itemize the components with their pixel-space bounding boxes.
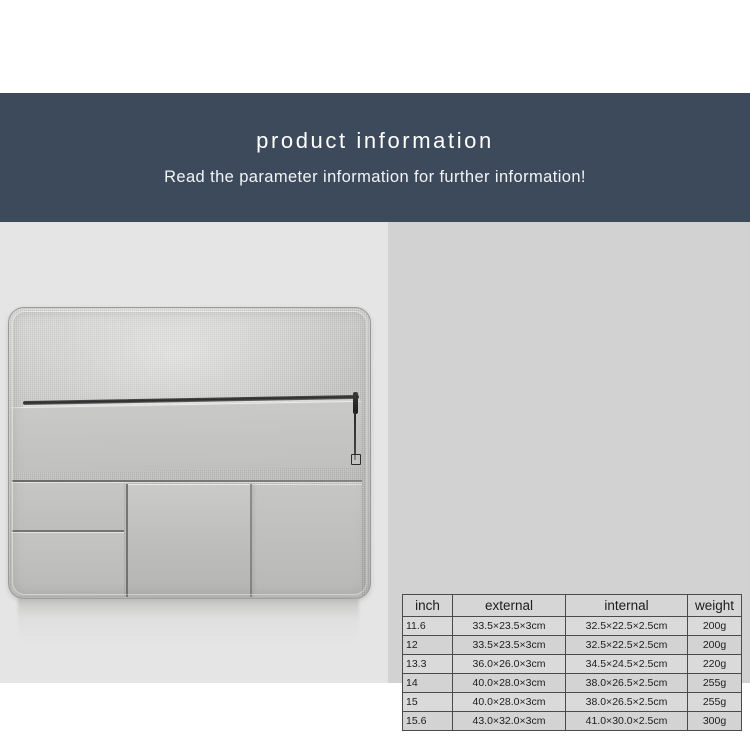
cell-external: 36.0×26.0×3cm bbox=[453, 655, 566, 674]
cell-internal: 41.0×30.0×2.5cm bbox=[566, 712, 688, 731]
cell-external: 40.0×28.0×3cm bbox=[453, 693, 566, 712]
table-header-row: inch external internal weight bbox=[403, 595, 742, 617]
laptop-sleeve-graphic bbox=[8, 307, 371, 599]
surface-reflection bbox=[18, 598, 359, 644]
product-photo bbox=[0, 222, 388, 683]
table-row: 12 33.5×23.5×3cm 32.5×22.5×2.5cm 200g bbox=[403, 636, 742, 655]
cell-internal: 34.5×24.5×2.5cm bbox=[566, 655, 688, 674]
table-row: 15.6 43.0×32.0×3cm 41.0×30.0×2.5cm 300g bbox=[403, 712, 742, 731]
cell-weight: 200g bbox=[688, 636, 742, 655]
cell-inch: 12 bbox=[403, 636, 453, 655]
page-subtitle: Read the parameter information for furth… bbox=[164, 168, 586, 186]
cell-internal: 32.5×22.5×2.5cm bbox=[566, 636, 688, 655]
cell-internal: 38.0×26.5×2.5cm bbox=[566, 674, 688, 693]
cell-weight: 300g bbox=[688, 712, 742, 731]
cell-weight: 255g bbox=[688, 674, 742, 693]
cell-internal: 38.0×26.5×2.5cm bbox=[566, 693, 688, 712]
table-row: 14 40.0×28.0×3cm 38.0×26.5×2.5cm 255g bbox=[403, 674, 742, 693]
column-header-internal: internal bbox=[566, 595, 688, 617]
spec-table-wrapper: inch external internal weight 11.6 33.5×… bbox=[402, 594, 741, 731]
column-header-inch: inch bbox=[403, 595, 453, 617]
cell-external: 40.0×28.0×3cm bbox=[453, 674, 566, 693]
cell-inch: 14 bbox=[403, 674, 453, 693]
sleeve-edge-piping bbox=[12, 311, 367, 595]
cell-weight: 255g bbox=[688, 693, 742, 712]
product-image-panel bbox=[0, 222, 388, 683]
cell-inch: 15 bbox=[403, 693, 453, 712]
specification-table: inch external internal weight 11.6 33.5×… bbox=[402, 594, 742, 731]
cell-weight: 220g bbox=[688, 655, 742, 674]
column-header-weight: weight bbox=[688, 595, 742, 617]
cell-inch: 13.3 bbox=[403, 655, 453, 674]
cell-inch: 11.6 bbox=[403, 617, 453, 636]
cell-external: 33.5×23.5×3cm bbox=[453, 636, 566, 655]
cell-external: 43.0×32.0×3cm bbox=[453, 712, 566, 731]
cell-weight: 200g bbox=[688, 617, 742, 636]
cell-external: 33.5×23.5×3cm bbox=[453, 617, 566, 636]
table-row: 13.3 36.0×26.0×3cm 34.5×24.5×2.5cm 220g bbox=[403, 655, 742, 674]
page-title: product information bbox=[256, 129, 494, 153]
cell-internal: 32.5×22.5×2.5cm bbox=[566, 617, 688, 636]
content-panel: inch external internal weight 11.6 33.5×… bbox=[0, 222, 750, 683]
header-band: product information Read the parameter i… bbox=[0, 93, 750, 222]
table-row: 11.6 33.5×23.5×3cm 32.5×22.5×2.5cm 200g bbox=[403, 617, 742, 636]
column-header-external: external bbox=[453, 595, 566, 617]
cell-inch: 15.6 bbox=[403, 712, 453, 731]
table-row: 15 40.0×28.0×3cm 38.0×26.5×2.5cm 255g bbox=[403, 693, 742, 712]
